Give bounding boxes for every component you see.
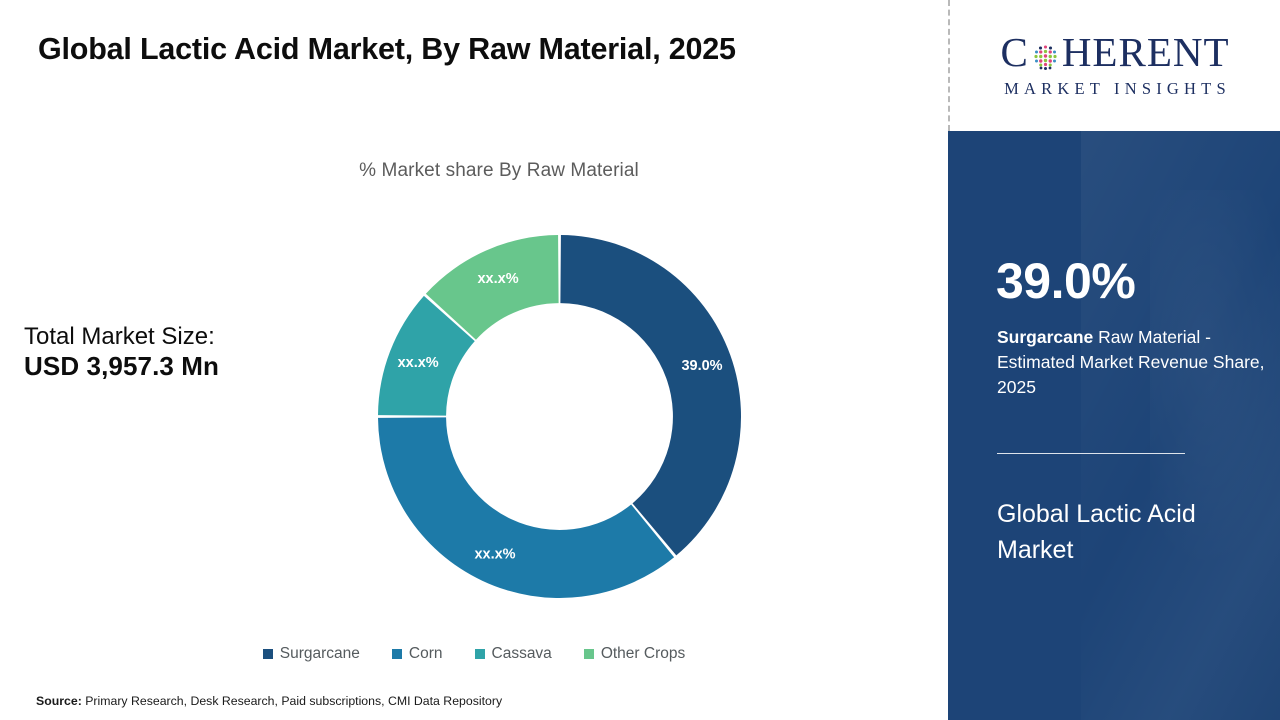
legend-label: Surgarcane	[280, 645, 360, 663]
donut-slice-label-corn: xx.x%	[474, 547, 515, 563]
chart-legend: SurgarcaneCornCassavaOther Crops	[0, 645, 948, 663]
donut-slice-surgarcane[interactable]	[560, 235, 741, 555]
panel-divider	[997, 453, 1185, 454]
legend-swatch-icon	[475, 649, 485, 659]
legend-label: Cassava	[492, 645, 552, 663]
page-title: Global Lactic Acid Market, By Raw Materi…	[38, 32, 736, 67]
highlight-stat-value: 39.0%	[996, 256, 1135, 306]
right-column: C	[948, 0, 1280, 720]
brand-logo[interactable]: C	[948, 0, 1280, 131]
legend-item-corn[interactable]: Corn	[392, 645, 443, 663]
globe-dots-icon	[1030, 39, 1061, 70]
total-market-size: Total Market Size: USD 3,957.3 Mn	[24, 322, 219, 383]
panel-footer-title: Global Lactic Acid Market	[997, 497, 1247, 568]
total-market-size-value: USD 3,957.3 Mn	[24, 351, 219, 383]
infographic-slide: Global Lactic Acid Market, By Raw Materi…	[0, 0, 1280, 720]
highlight-stat-description: Surgarcane Raw Material - Estimated Mark…	[997, 325, 1265, 400]
donut-slice-label-cassava: xx.x%	[398, 355, 439, 371]
donut-slice-label-surgarcane: 39.0%	[681, 358, 722, 374]
main-chart-panel: Global Lactic Acid Market, By Raw Materi…	[0, 0, 948, 720]
legend-swatch-icon	[263, 649, 273, 659]
legend-item-other-crops[interactable]: Other Crops	[584, 645, 685, 663]
highlight-panel: 39.0% Surgarcane Raw Material - Estimate…	[948, 131, 1280, 720]
logo-wordmark-rest: HERENT	[1062, 32, 1230, 73]
donut-chart: 39.0%xx.x%xx.x%xx.x%	[378, 235, 741, 598]
donut-slices	[378, 235, 741, 598]
legend-swatch-icon	[392, 649, 402, 659]
source-note: Source: Primary Research, Desk Research,…	[36, 694, 502, 708]
logo-letter-c: C	[1000, 32, 1028, 73]
chart-subtitle: % Market share By Raw Material	[0, 160, 948, 182]
legend-label: Other Crops	[601, 645, 685, 663]
source-label: Source:	[36, 694, 82, 708]
legend-item-surgarcane[interactable]: Surgarcane	[263, 645, 360, 663]
legend-swatch-icon	[584, 649, 594, 659]
total-market-size-label: Total Market Size:	[24, 322, 219, 351]
legend-item-cassava[interactable]: Cassava	[475, 645, 552, 663]
legend-label: Corn	[409, 645, 443, 663]
logo-subtitle: MARKET INSIGHTS	[999, 79, 1231, 99]
donut-chart-svg: 39.0%xx.x%xx.x%xx.x%	[378, 235, 741, 598]
highlight-stat-category: Surgarcane	[997, 327, 1093, 347]
donut-slice-label-other-crops: xx.x%	[477, 271, 518, 287]
donut-slice-corn[interactable]	[378, 417, 674, 598]
chart-subtitle-text: % Market share By Raw Material	[359, 160, 639, 181]
logo-wordmark: C	[1000, 32, 1229, 73]
source-text: Primary Research, Desk Research, Paid su…	[82, 694, 502, 708]
